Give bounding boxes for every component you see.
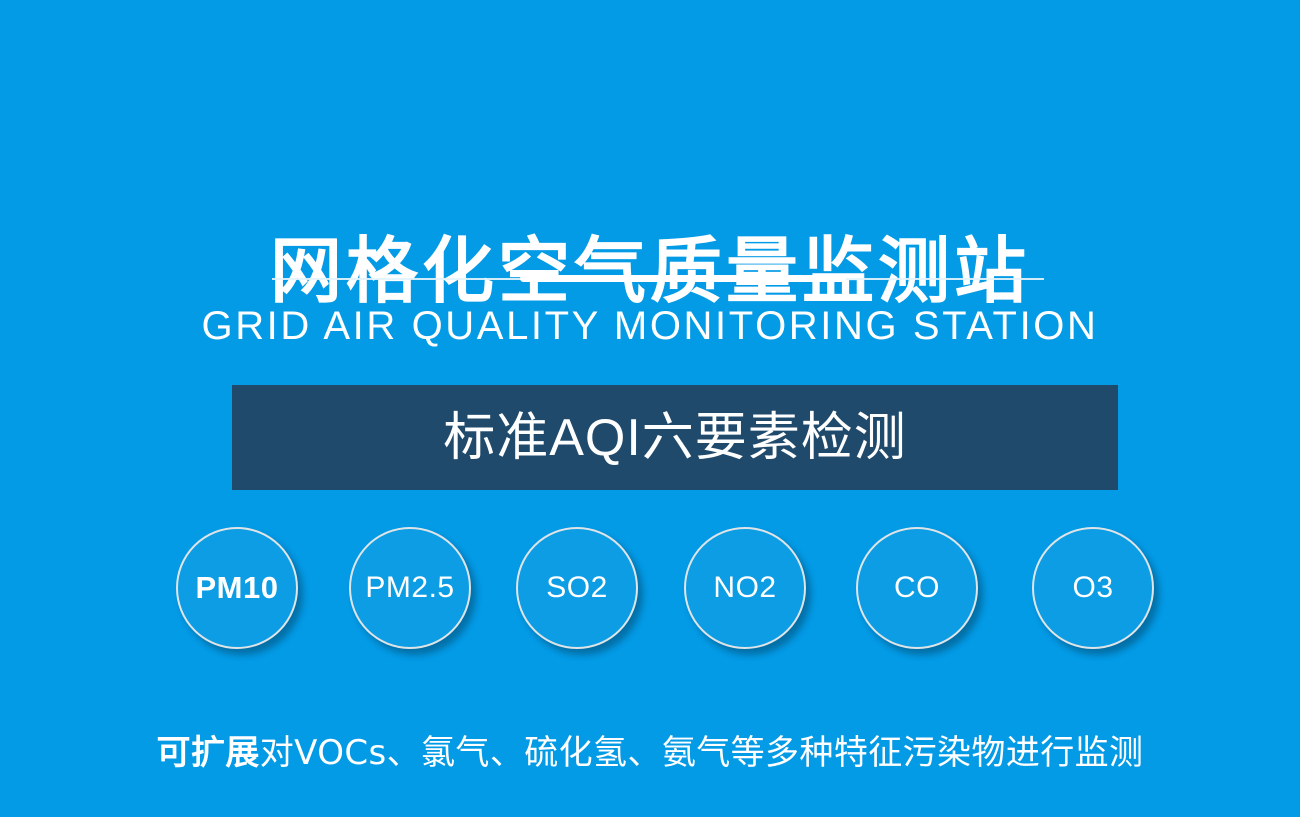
title-divider <box>272 274 1044 284</box>
pollutant-label: PM2.5 <box>365 572 454 604</box>
pollutant-label: O3 <box>1072 572 1113 604</box>
pollutant-label: NO2 <box>713 572 776 604</box>
pollutant-circle-so2[interactable]: SO2 <box>516 527 638 649</box>
promo-banner: 网格化空气质量监测站 GRID AIR QUALITY MONITORING S… <box>0 0 1300 817</box>
feature-banner: 标准AQI六要素检测 <box>232 385 1118 490</box>
pollutant-circle-row: PM10 PM2.5 SO2 NO2 CO O3 <box>0 527 1300 655</box>
footer-note-rest: 对VOCs、氯气、硫化氢、氨气等多种特征污染物进行监测 <box>260 733 1144 773</box>
page-title: 网格化空气质量监测站 <box>0 229 1300 313</box>
feature-banner-label: 标准AQI六要素检测 <box>443 408 907 468</box>
pollutant-circle-pm10[interactable]: PM10 <box>176 527 298 649</box>
divider-pill <box>520 275 846 282</box>
pollutant-circle-co[interactable]: CO <box>856 527 978 649</box>
pollutant-circle-no2[interactable]: NO2 <box>684 527 806 649</box>
footer-note-strong: 可扩展 <box>157 733 260 773</box>
pollutant-label: SO2 <box>546 572 608 604</box>
page-subtitle: GRID AIR QUALITY MONITORING STATION <box>0 302 1300 350</box>
pollutant-label: CO <box>894 572 940 604</box>
pollutant-label: PM10 <box>196 572 279 604</box>
pollutant-circle-o3[interactable]: O3 <box>1032 527 1154 649</box>
pollutant-circle-pm25[interactable]: PM2.5 <box>349 527 471 649</box>
footer-note: 可扩展对VOCs、氯气、硫化氢、氨气等多种特征污染物进行监测 <box>0 732 1300 774</box>
